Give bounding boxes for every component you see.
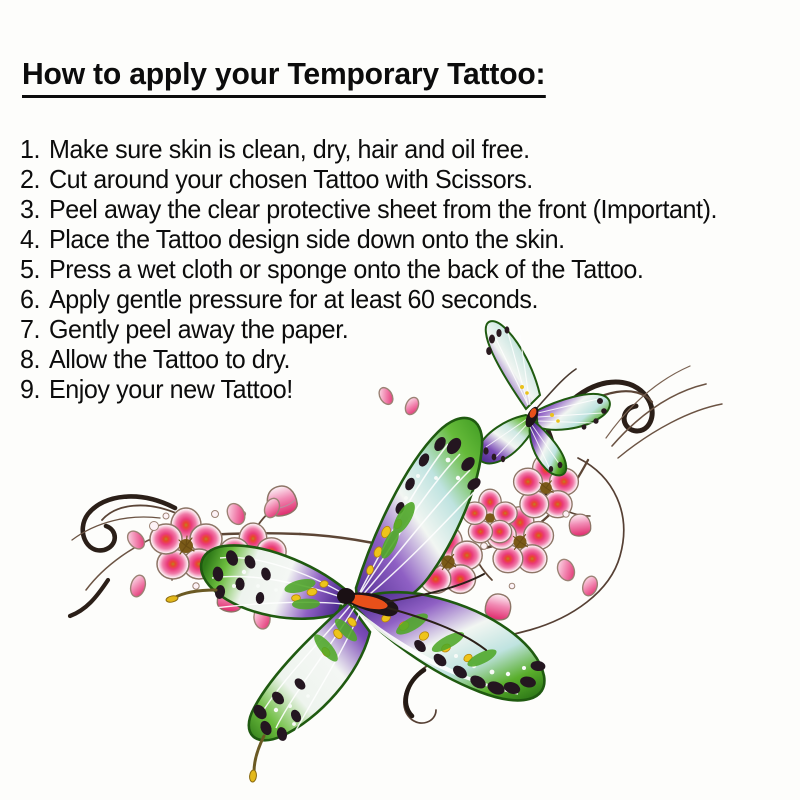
step-text: Cut around your chosen Tattoo with Sciss… xyxy=(49,164,533,194)
list-item: 8. Allow the Tattoo to dry. xyxy=(20,344,773,374)
blossom-bud xyxy=(263,482,300,519)
step-number: 4. xyxy=(20,224,49,254)
step-number: 3. xyxy=(20,194,49,224)
list-item: 6. Apply gentle pressure for at least 60… xyxy=(20,284,773,314)
wing-lower-left xyxy=(477,415,538,463)
butterfly-body xyxy=(337,588,398,616)
step-text: Place the Tattoo design side down onto t… xyxy=(49,224,565,254)
instruction-steps-list: 1. Make sure skin is clean, dry, hair an… xyxy=(20,134,800,404)
list-item: 2. Cut around your chosen Tattoo with Sc… xyxy=(20,164,773,194)
list-item: 9. Enjoy your new Tattoo! xyxy=(20,374,773,404)
step-number: 8. xyxy=(20,344,49,374)
falling-petals xyxy=(124,385,600,630)
list-item: 1. Make sure skin is clean, dry, hair an… xyxy=(20,134,773,164)
blossom-bud xyxy=(403,492,436,526)
blossom-bud xyxy=(216,584,245,614)
tattoo-instruction-sheet: How to apply your Temporary Tattoo: 1. M… xyxy=(0,0,800,800)
page-title: How to apply your Temporary Tattoo: xyxy=(22,56,545,98)
wing-upper-left xyxy=(166,545,346,618)
step-number: 5. xyxy=(20,254,49,284)
cherry-blossom-branch-right xyxy=(403,454,592,622)
blossom-bud xyxy=(483,592,513,622)
step-text: Allow the Tattoo to dry. xyxy=(49,344,290,374)
step-number: 1. xyxy=(20,134,49,164)
step-text: Enjoy your new Tattoo! xyxy=(49,374,293,404)
decorative-swirls xyxy=(70,366,722,723)
step-text: Peel away the clear protective sheet fro… xyxy=(49,194,717,224)
step-text: Make sure skin is clean, dry, hair and o… xyxy=(49,134,530,164)
wing-lower-right xyxy=(354,592,546,700)
step-number: 7. xyxy=(20,314,49,344)
branch-stems xyxy=(150,460,590,580)
list-item: 5. Press a wet cloth or sponge onto the … xyxy=(20,254,773,284)
list-item: 7. Gently peel away the paper. xyxy=(20,314,773,344)
step-text: Press a wet cloth or sponge onto the bac… xyxy=(49,254,644,284)
step-number: 6. xyxy=(20,284,49,314)
wing-upper-right xyxy=(356,418,483,610)
cherry-blossom-branch-left xyxy=(150,482,300,613)
step-text: Apply gentle pressure for at least 60 se… xyxy=(49,284,538,314)
wing-lower-right xyxy=(530,421,567,475)
list-item: 3. Peel away the clear protective sheet … xyxy=(20,194,773,224)
large-butterfly xyxy=(166,418,546,782)
step-number: 9. xyxy=(20,374,49,404)
list-item: 4. Place the Tattoo design side down ont… xyxy=(20,224,773,254)
step-text: Gently peel away the paper. xyxy=(49,314,348,344)
wing-lower-left xyxy=(249,602,370,782)
step-number: 2. xyxy=(20,164,49,194)
blossom-bud xyxy=(568,513,592,538)
